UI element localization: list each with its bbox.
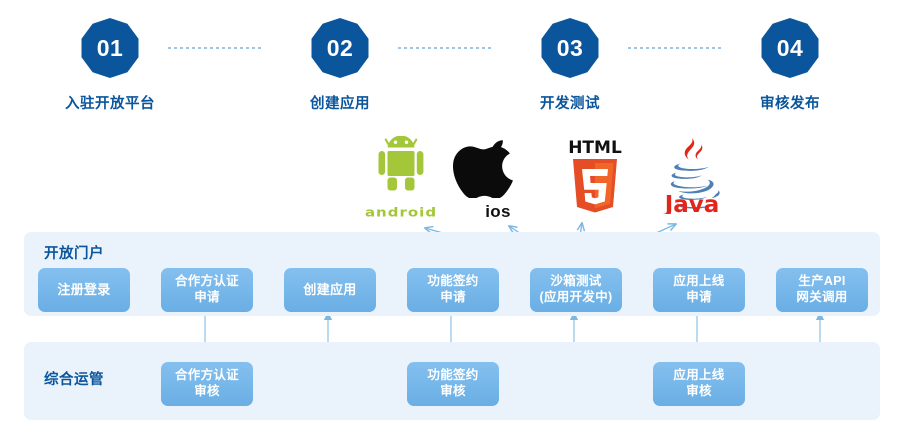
- node-feature-sign-review-line2: 审核: [440, 384, 466, 398]
- node-sandbox-line1: 沙箱测试: [550, 274, 601, 288]
- step-badge-03: 03: [540, 18, 600, 78]
- step-03[interactable]: 03 开发测试: [510, 18, 630, 113]
- step-label-03: 开发测试: [510, 92, 630, 113]
- node-prod-api[interactable]: 生产API 网关调用: [776, 268, 868, 312]
- ios-caption: ios: [450, 203, 546, 220]
- node-app-online-line1: 应用上线: [673, 274, 724, 288]
- node-app-online-review-line2: 审核: [686, 384, 712, 398]
- node-prod-api-line1: 生产API: [798, 274, 845, 288]
- step-label-02: 创建应用: [280, 92, 400, 113]
- step-number-03: 03: [557, 37, 584, 60]
- step-connector-2-3: [398, 47, 492, 49]
- step-number-01: 01: [97, 37, 124, 60]
- step-01[interactable]: 01 入驻开放平台: [50, 18, 170, 113]
- step-connector-1-2: [168, 47, 262, 49]
- step-number-04: 04: [777, 37, 804, 60]
- node-feature-sign[interactable]: 功能签约 申请: [407, 268, 499, 312]
- step-label-04: 审核发布: [730, 92, 850, 113]
- node-feature-sign-line2: 申请: [440, 290, 466, 304]
- android-robot-icon: [353, 136, 449, 198]
- apple-ios-logo: ios: [450, 136, 546, 220]
- node-app-online-review-line1: 应用上线: [673, 368, 724, 382]
- node-create-app[interactable]: 创建应用: [284, 268, 376, 312]
- node-partner-auth-line2: 申请: [194, 290, 220, 304]
- node-feature-sign-review[interactable]: 功能签约 审核: [407, 362, 499, 406]
- steps-row: 01 入驻开放平台 02 创建应用 03 开发测试 04 审核发布: [0, 0, 900, 130]
- node-prod-api-line2: 网关调用: [796, 290, 847, 304]
- node-register-label: 注册登录: [57, 282, 110, 297]
- node-register[interactable]: 注册登录: [38, 268, 130, 312]
- svg-text:HTML: HTML: [568, 138, 622, 158]
- html5-shield-icon: HTML: [547, 136, 643, 216]
- java-coffee-cup-icon: Java: [644, 136, 740, 214]
- node-feature-sign-line1: 功能签约: [427, 274, 478, 288]
- node-app-online[interactable]: 应用上线 申请: [653, 268, 745, 312]
- android-caption: android: [353, 206, 449, 219]
- html5-logo: HTML: [547, 136, 643, 220]
- node-partner-auth[interactable]: 合作方认证 申请: [161, 268, 253, 312]
- step-04[interactable]: 04 审核发布: [730, 18, 850, 113]
- node-partner-auth-review-line1: 合作方认证: [175, 368, 239, 382]
- node-partner-auth-review-line2: 审核: [194, 384, 220, 398]
- node-sandbox-line2: (应用开发中): [540, 290, 613, 304]
- step-badge-04: 04: [760, 18, 820, 78]
- node-create-app-label: 创建应用: [303, 282, 356, 297]
- platform-logos-row: android ios HTML: [0, 136, 900, 220]
- node-feature-sign-review-line1: 功能签约: [427, 368, 478, 382]
- apple-icon: [450, 136, 546, 198]
- node-partner-auth-line1: 合作方认证: [175, 274, 239, 288]
- ops-panel-title: 综合运管: [44, 368, 104, 389]
- android-logo: android: [353, 136, 449, 220]
- step-02[interactable]: 02 创建应用: [280, 18, 400, 113]
- step-number-02: 02: [327, 37, 354, 60]
- step-label-01: 入驻开放平台: [50, 92, 170, 113]
- node-sandbox[interactable]: 沙箱测试 (应用开发中): [530, 268, 622, 312]
- step-badge-01: 01: [80, 18, 140, 78]
- node-app-online-line2: 申请: [686, 290, 712, 304]
- portal-panel-title: 开放门户: [44, 242, 104, 263]
- node-partner-auth-review[interactable]: 合作方认证 审核: [161, 362, 253, 406]
- step-badge-02: 02: [310, 18, 370, 78]
- node-app-online-review[interactable]: 应用上线 审核: [653, 362, 745, 406]
- step-connector-3-4: [628, 47, 722, 49]
- java-wordmark: Java: [663, 192, 720, 214]
- java-logo: Java: [644, 136, 740, 220]
